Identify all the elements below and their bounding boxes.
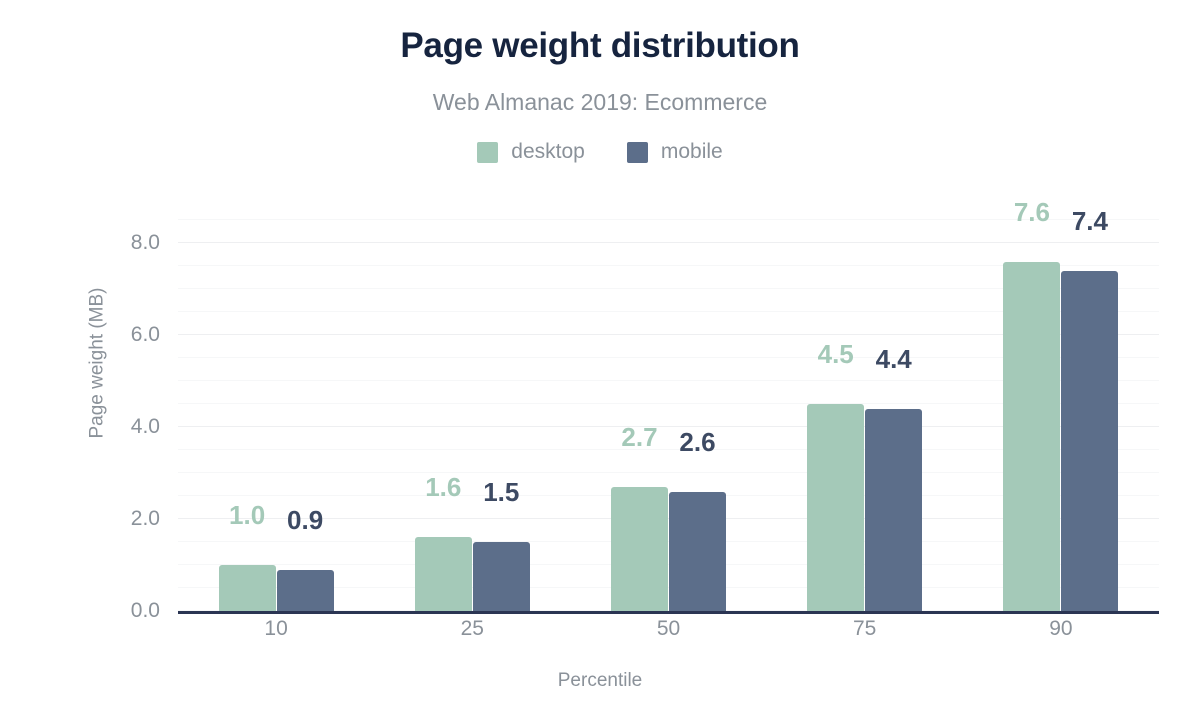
- bar-value-mobile-75: 4.4: [876, 344, 912, 375]
- x-tick-label: 90: [1001, 617, 1121, 641]
- bar-value-mobile-10: 0.9: [287, 505, 323, 536]
- legend-item-mobile[interactable]: mobile: [627, 140, 723, 164]
- y-tick-label: 6.0: [100, 323, 160, 347]
- bar-value-mobile-90: 7.4: [1072, 206, 1108, 237]
- chart-legend: desktop mobile: [0, 140, 1200, 164]
- gridline-minor: [178, 219, 1159, 220]
- legend-label-mobile: mobile: [661, 140, 723, 164]
- x-tick-label: 75: [805, 617, 925, 641]
- plot-area: 0.02.04.06.08.01.00.91.61.52.72.64.54.47…: [178, 202, 1159, 611]
- bar-mobile-90[interactable]: [1061, 271, 1118, 611]
- bar-value-desktop-25: 1.6: [425, 472, 461, 503]
- x-tick-label: 25: [412, 617, 532, 641]
- bar-value-mobile-50: 2.6: [679, 427, 715, 458]
- bar-desktop-75[interactable]: [807, 404, 864, 611]
- chart-subtitle: Web Almanac 2019: Ecommerce: [0, 89, 1200, 116]
- bar-value-desktop-10: 1.0: [229, 500, 265, 531]
- bar-mobile-10[interactable]: [277, 570, 334, 611]
- bar-value-mobile-25: 1.5: [483, 477, 519, 508]
- y-tick-label: 8.0: [100, 231, 160, 255]
- x-tick-label: 50: [609, 617, 729, 641]
- legend-item-desktop[interactable]: desktop: [477, 140, 585, 164]
- bar-value-desktop-75: 4.5: [818, 339, 854, 370]
- bar-value-desktop-90: 7.6: [1014, 197, 1050, 228]
- bar-desktop-90[interactable]: [1003, 262, 1060, 611]
- y-tick-label: 4.0: [100, 415, 160, 439]
- bar-desktop-50[interactable]: [611, 487, 668, 611]
- legend-swatch-mobile: [627, 142, 648, 163]
- y-tick-label: 0.0: [100, 599, 160, 623]
- x-axis-line: [178, 611, 1159, 614]
- bar-mobile-75[interactable]: [865, 409, 922, 611]
- bar-mobile-50[interactable]: [669, 492, 726, 611]
- legend-label-desktop: desktop: [511, 140, 585, 164]
- legend-swatch-desktop: [477, 142, 498, 163]
- bar-mobile-25[interactable]: [473, 542, 530, 611]
- x-tick-label: 10: [216, 617, 336, 641]
- chart-title: Page weight distribution: [0, 26, 1200, 66]
- bar-value-desktop-50: 2.7: [621, 422, 657, 453]
- y-tick-label: 2.0: [100, 507, 160, 531]
- bar-desktop-10[interactable]: [219, 565, 276, 611]
- x-axis-title: Percentile: [0, 670, 1200, 692]
- bar-desktop-25[interactable]: [415, 537, 472, 611]
- gridline-major: [178, 242, 1159, 243]
